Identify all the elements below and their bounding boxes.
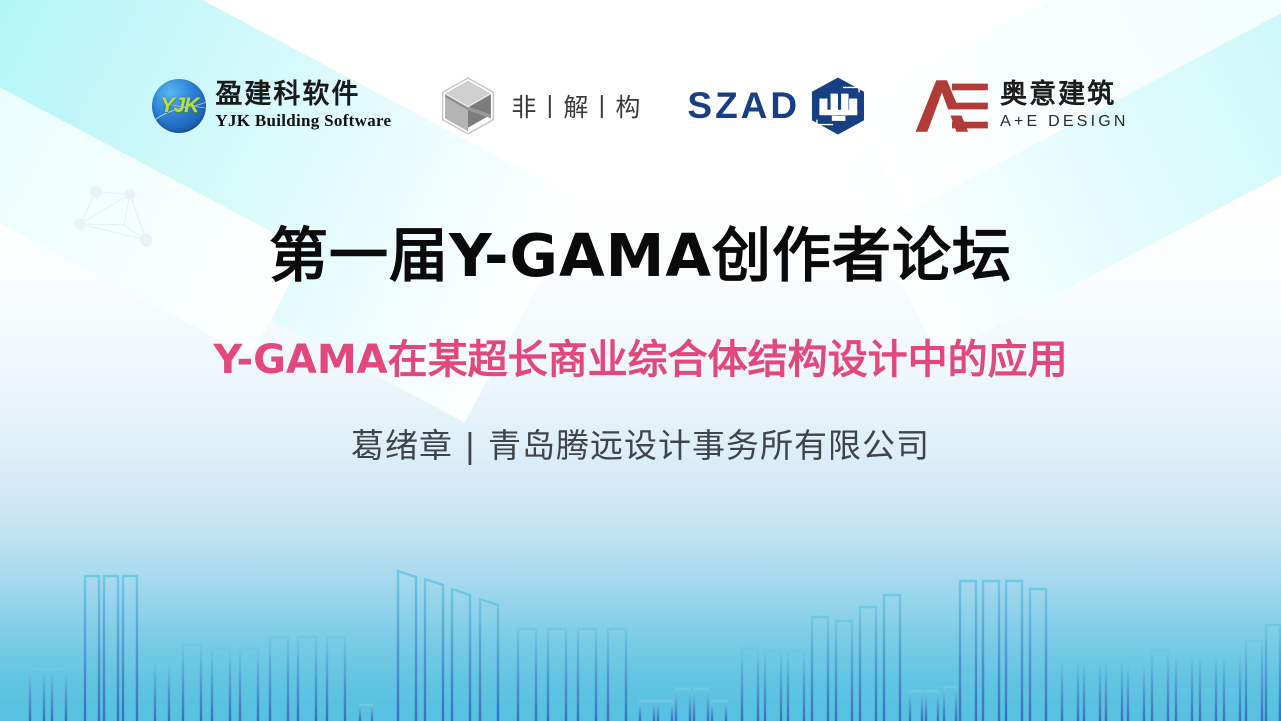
skyline-building: [425, 579, 443, 721]
szad-wordmark: SZAD: [687, 85, 800, 127]
sponsor-logo-row: YJK 盈建科软件 YJK Building Software 非丨解丨构: [0, 62, 1281, 150]
skyline-building: [960, 581, 976, 721]
skyline-building: [640, 701, 654, 721]
skyline-building: [548, 629, 566, 721]
skyline-building: [1084, 659, 1100, 721]
feijiegou-chinese-name: 非丨解丨构: [511, 88, 641, 124]
yjk-mark-text: YJK: [152, 79, 206, 133]
skyline-building: [884, 595, 900, 721]
cube-hexagon-icon: [437, 75, 499, 137]
skyline-building: [1152, 651, 1168, 721]
logo-yjk: YJK 盈建科软件 YJK Building Software: [152, 79, 391, 133]
skyline-building: [1030, 589, 1046, 721]
skyline-building: [123, 576, 137, 721]
skyline-building: [104, 576, 118, 721]
skyline-building: [742, 649, 758, 721]
ae-english-name: A+E DESIGN: [1000, 113, 1128, 131]
skyline-building: [1006, 581, 1022, 721]
skyline-building: [327, 637, 345, 721]
skyline-building: [694, 689, 708, 721]
skyline-building: [944, 687, 956, 721]
skyline-building: [30, 669, 44, 721]
skyline-building: [812, 617, 828, 721]
diagonal-band-top-right-primary: [839, 0, 1281, 357]
skyline-building: [910, 691, 922, 721]
skyline-building: [52, 669, 66, 721]
skyline-building: [1176, 655, 1192, 721]
skyline-building: [836, 621, 852, 721]
skyline-building: [676, 689, 690, 721]
presentation-slide: YJK 盈建科软件 YJK Building Software 非丨解丨构: [0, 0, 1281, 721]
skyline-building: [85, 576, 99, 721]
skyline-building: [480, 599, 498, 721]
skyline-building: [1224, 655, 1240, 721]
szad-hexagon-badge-icon: [807, 75, 869, 137]
skyline-building: [1200, 655, 1216, 721]
skyline-building: [926, 691, 938, 721]
logo-feijiegou: 非丨解丨构: [437, 75, 641, 137]
skyline-building: [298, 637, 316, 721]
skyline-building: [1128, 663, 1144, 721]
skyline-building: [1246, 641, 1262, 721]
presenter-affiliation: 葛绪章 | 青岛腾远设计事务所有限公司: [0, 419, 1281, 467]
skyline-building: [712, 701, 726, 721]
yjk-english-name: YJK Building Software: [215, 111, 391, 131]
skyline-building: [578, 629, 596, 721]
logo-ae-design: 奥意建筑 A+E DESIGN: [915, 78, 1128, 134]
slide-subtitle: Y-GAMA在某超长商业综合体结构设计中的应用: [0, 327, 1281, 385]
yjk-chinese-name: 盈建科软件: [215, 81, 391, 109]
skyline-building: [658, 701, 672, 721]
skyline-building: [360, 705, 372, 721]
ae-chinese-name: 奥意建筑: [1000, 81, 1128, 109]
skyline-building: [398, 571, 416, 721]
skyline-building: [1266, 625, 1280, 721]
skyline-building: [1106, 659, 1122, 721]
skyline-building: [518, 629, 536, 721]
skyline-building: [183, 645, 201, 721]
slide-main-title: 第一届Y-GAMA创作者论坛: [0, 208, 1281, 293]
skyline-building: [240, 649, 258, 721]
skyline-building: [1062, 659, 1078, 721]
skyline-building: [155, 661, 169, 721]
skyline-building: [212, 649, 230, 721]
skyline-building: [765, 651, 781, 721]
skyline-building: [860, 607, 876, 721]
skyline-building: [452, 589, 470, 721]
skyline-building: [608, 629, 626, 721]
logo-szad: SZAD: [687, 75, 869, 137]
ae-monogram-icon: [915, 78, 989, 134]
skyline-building: [270, 637, 288, 721]
yjk-globe-icon: YJK: [152, 79, 206, 133]
skyline-building: [983, 581, 999, 721]
city-skyline-decoration: [0, 536, 1281, 721]
skyline-building: [788, 651, 804, 721]
